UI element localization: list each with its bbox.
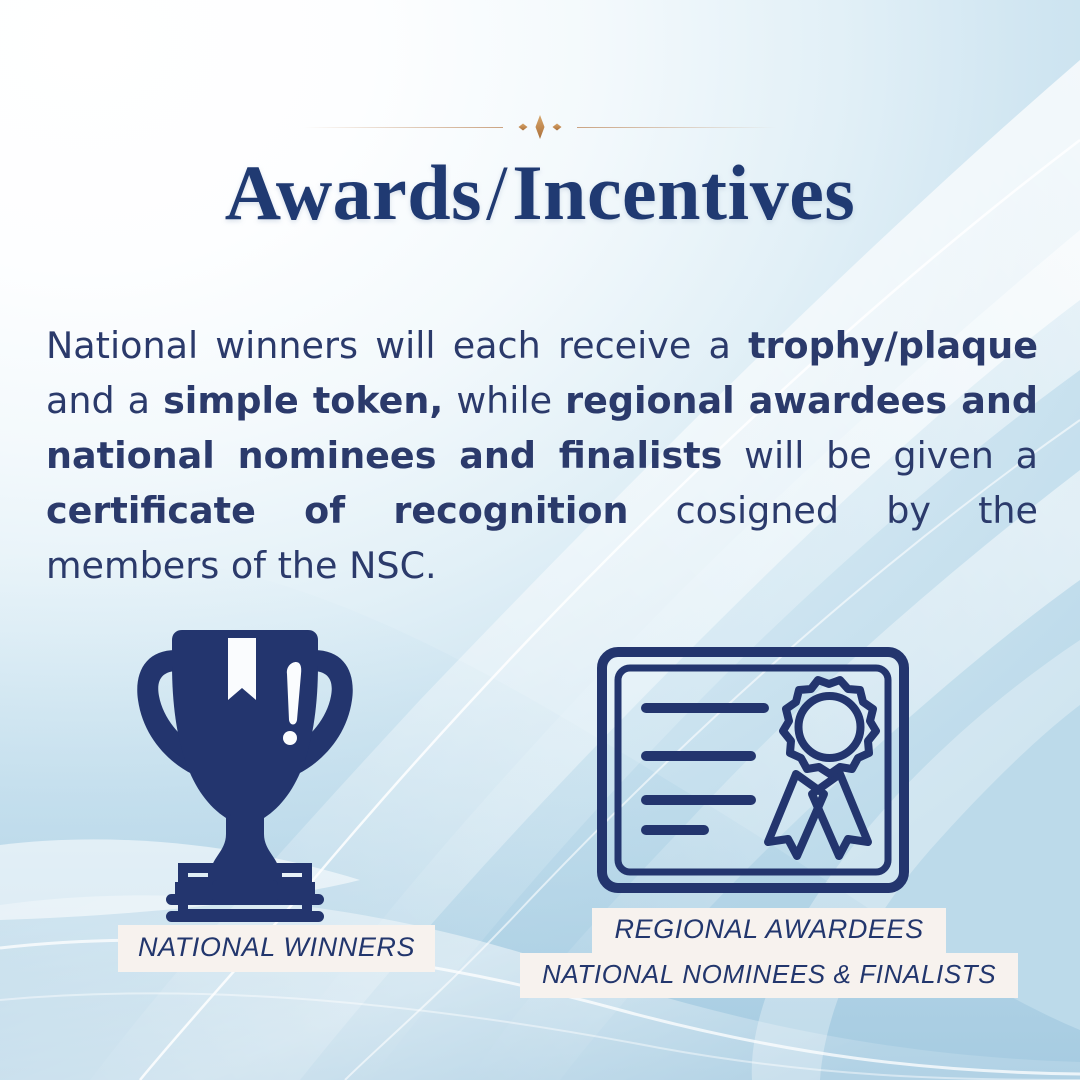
body-run-7: will be given a bbox=[722, 434, 1038, 477]
divider-rule-right bbox=[577, 127, 777, 128]
header-divider bbox=[0, 112, 1080, 142]
caption-regional-group: REGIONAL AWARDEES NATIONAL NOMINEES & FI… bbox=[520, 908, 1018, 998]
title-separator: / bbox=[482, 149, 512, 236]
caption-regional-awardees-label: REGIONAL AWARDEES bbox=[614, 914, 923, 945]
certificate-icon bbox=[596, 646, 910, 894]
caption-national-nominees: NATIONAL NOMINEES & FINALISTS bbox=[520, 953, 1018, 998]
caption-national-nominees-label: NATIONAL NOMINEES & FINALISTS bbox=[542, 959, 996, 990]
body-run-8-bold: certificate of recognition bbox=[46, 489, 628, 532]
caption-national-winners: NATIONAL WINNERS bbox=[118, 925, 435, 972]
icon-row bbox=[0, 628, 1080, 928]
title-part-awards: Awards bbox=[225, 149, 482, 236]
caption-regional-awardees: REGIONAL AWARDEES bbox=[592, 908, 945, 953]
body-run-4-bold: simple token, bbox=[163, 379, 443, 422]
diamond-ornament-icon bbox=[509, 112, 571, 142]
title-part-incentives: Incentives bbox=[512, 149, 855, 236]
divider-rule-left bbox=[303, 127, 503, 128]
body-run-1: National winners will each receive a bbox=[46, 324, 748, 367]
slide-canvas: Awards/Incentives National winners will … bbox=[0, 0, 1080, 1080]
trophy-base bbox=[130, 856, 360, 931]
body-run-5: while bbox=[443, 379, 565, 422]
body-run-2-bold: trophy/plaque bbox=[748, 324, 1038, 367]
body-paragraph: National winners will each receive a tro… bbox=[46, 318, 1038, 593]
caption-national-winners-label: NATIONAL WINNERS bbox=[138, 932, 415, 963]
page-title: Awards/Incentives bbox=[0, 148, 1080, 238]
body-run-3: and a bbox=[46, 379, 163, 422]
